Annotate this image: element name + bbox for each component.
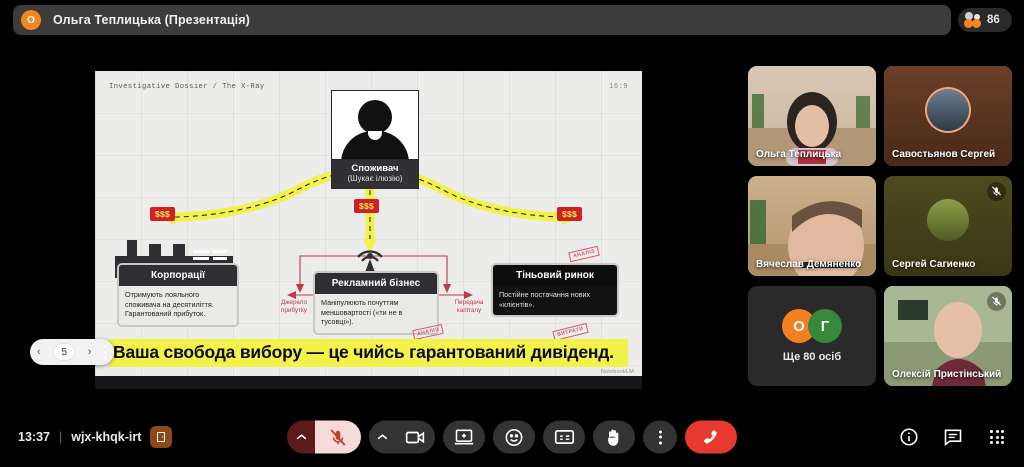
people-group-icon xyxy=(964,12,982,28)
tile-name-5: Олексій Пристінський xyxy=(892,369,1001,380)
box-corporations: Корпорації Отримують лояльного споживача… xyxy=(117,263,239,327)
raise-hand-button[interactable] xyxy=(593,421,635,454)
box-advertising-body: Маніпулюють почуттям меншовартості («ти … xyxy=(315,294,437,333)
chat-button[interactable] xyxy=(942,426,964,448)
tile-name-4: Сергей Сагиенко xyxy=(892,259,975,270)
tile-name-1: Ольга Теплицька xyxy=(756,149,841,160)
box-shadow-market: Тіньовий ринок Постійне постачання нових… xyxy=(491,263,619,317)
slide-prev-button[interactable]: ‹ xyxy=(37,346,41,358)
tile-participant-5[interactable]: Олексій Пристінський xyxy=(884,286,1012,386)
microphone-button[interactable] xyxy=(287,421,361,454)
box-shadow-market-body: Постійне постачання нових «клієнтів». xyxy=(493,286,617,315)
present-screen-button[interactable] xyxy=(443,421,485,454)
notebooklm-watermark: NotebookLM xyxy=(601,369,634,375)
tile-participant-4[interactable]: Сергей Сагиенко xyxy=(884,176,1012,276)
meeting-code[interactable]: wjx-khqk-irt xyxy=(71,430,141,444)
camera-button[interactable] xyxy=(369,421,435,454)
box-shadow-market-title: Тіньовий ринок xyxy=(493,265,617,286)
box-advertising: Рекламний бізнес Маніпулюють почуттям ме… xyxy=(313,271,439,335)
tile-more-participants[interactable]: О Г Ще 80 осіб xyxy=(748,286,876,386)
slide-more-options-icon[interactable] xyxy=(104,345,107,359)
money-tag-center: $$$ xyxy=(354,199,379,213)
meeting-info-button[interactable] xyxy=(898,426,920,448)
presentation-title: Ольга Теплицька (Презентація) xyxy=(53,13,250,27)
presenter-avatar: О xyxy=(21,10,41,30)
right-controls xyxy=(898,426,1008,448)
bottom-bar: 13:37 | wjx-khqk-irt xyxy=(0,407,1024,467)
tile-name-2: Савостьянов Сергей xyxy=(892,149,995,160)
more-options-button[interactable] xyxy=(643,421,677,454)
slide-navigation-control[interactable]: ‹ 5 › xyxy=(30,339,114,365)
box-advertising-title: Рекламний бізнес xyxy=(315,273,437,294)
silhouette-head-icon xyxy=(358,100,392,134)
slide-ratio-label: 16:9 xyxy=(609,83,628,91)
meeting-app-root: О Ольга Теплицька (Презентація) 86 Inves… xyxy=(0,0,1024,467)
door-exit-icon[interactable] xyxy=(150,426,172,448)
red-label-profit-source: Джерело прибутку xyxy=(271,299,317,314)
money-tag-left: $$$ xyxy=(150,207,175,221)
microphone-options-caret-icon[interactable] xyxy=(287,421,315,454)
camera-options-caret-icon[interactable] xyxy=(369,421,395,454)
red-label-capital-transfer: Передача капіталу xyxy=(443,299,495,314)
slide-bottom-strip xyxy=(95,376,642,389)
consumer-title: Споживач xyxy=(332,163,418,174)
meeting-info-separator: | xyxy=(59,430,62,444)
avatar-2 xyxy=(927,89,969,131)
money-tag-right: $$$ xyxy=(557,207,582,221)
box-corporations-title: Корпорації xyxy=(119,265,237,286)
meeting-info: 13:37 | wjx-khqk-irt xyxy=(18,426,172,448)
emoji-reactions-button[interactable] xyxy=(493,421,535,454)
meeting-time: 13:37 xyxy=(18,430,50,444)
more-avatar-2: Г xyxy=(808,309,842,343)
slide-next-button[interactable]: › xyxy=(88,346,92,358)
more-participants-label: Ще 80 осіб xyxy=(783,351,841,363)
consumer-subtitle: (Шукає ілюзію) xyxy=(332,174,418,184)
slide-headline: Ваша свобода вибору — це чийсь гарантова… xyxy=(109,339,628,367)
tile-participant-1[interactable]: Ольга Теплицька xyxy=(748,66,876,166)
more-participants-avatars: О Г xyxy=(782,309,842,343)
captions-button[interactable] xyxy=(543,421,585,454)
more-options-icon xyxy=(659,430,662,444)
top-bar: О Ольга Теплицька (Презентація) 86 xyxy=(0,0,1024,40)
avatar-4 xyxy=(927,199,969,241)
apps-grid-icon xyxy=(990,430,1004,444)
participant-count: 86 xyxy=(987,14,1000,26)
presentation-title-pill[interactable]: О Ольга Теплицька (Презентація) xyxy=(13,5,951,35)
slide-canvas: Investigative Dossier / The X-Ray 16:9 xyxy=(95,71,642,389)
consumer-node: Споживач (Шукає ілюзію) xyxy=(331,90,419,188)
end-call-button[interactable] xyxy=(685,421,737,454)
box-corporations-body: Отримують лояльного споживача на десятил… xyxy=(119,286,237,325)
slide-page-number: 5 xyxy=(53,343,75,361)
activities-button[interactable] xyxy=(986,426,1008,448)
participant-count-pill[interactable]: 86 xyxy=(958,8,1012,32)
presentation-stage[interactable]: Investigative Dossier / The X-Ray 16:9 xyxy=(12,69,736,391)
tile-name-3: Вячеслав Демяненко xyxy=(756,259,861,270)
microphone-muted-icon[interactable] xyxy=(315,421,361,454)
consumer-photo xyxy=(331,90,419,160)
mute-icon-4 xyxy=(987,182,1006,201)
mute-icon-5 xyxy=(987,292,1006,311)
meeting-controls xyxy=(287,421,737,454)
camera-off-icon[interactable] xyxy=(395,421,435,454)
participant-tiles: Ольга Теплицька Савостьянов Сергей Вячес… xyxy=(748,66,1012,392)
tile-participant-2[interactable]: Савостьянов Сергей xyxy=(884,66,1012,166)
tile-participant-3[interactable]: Вячеслав Демяненко xyxy=(748,176,876,276)
slide-header-label: Investigative Dossier / The X-Ray xyxy=(109,83,265,91)
consumer-caption: Споживач (Шукає ілюзію) xyxy=(331,160,419,189)
